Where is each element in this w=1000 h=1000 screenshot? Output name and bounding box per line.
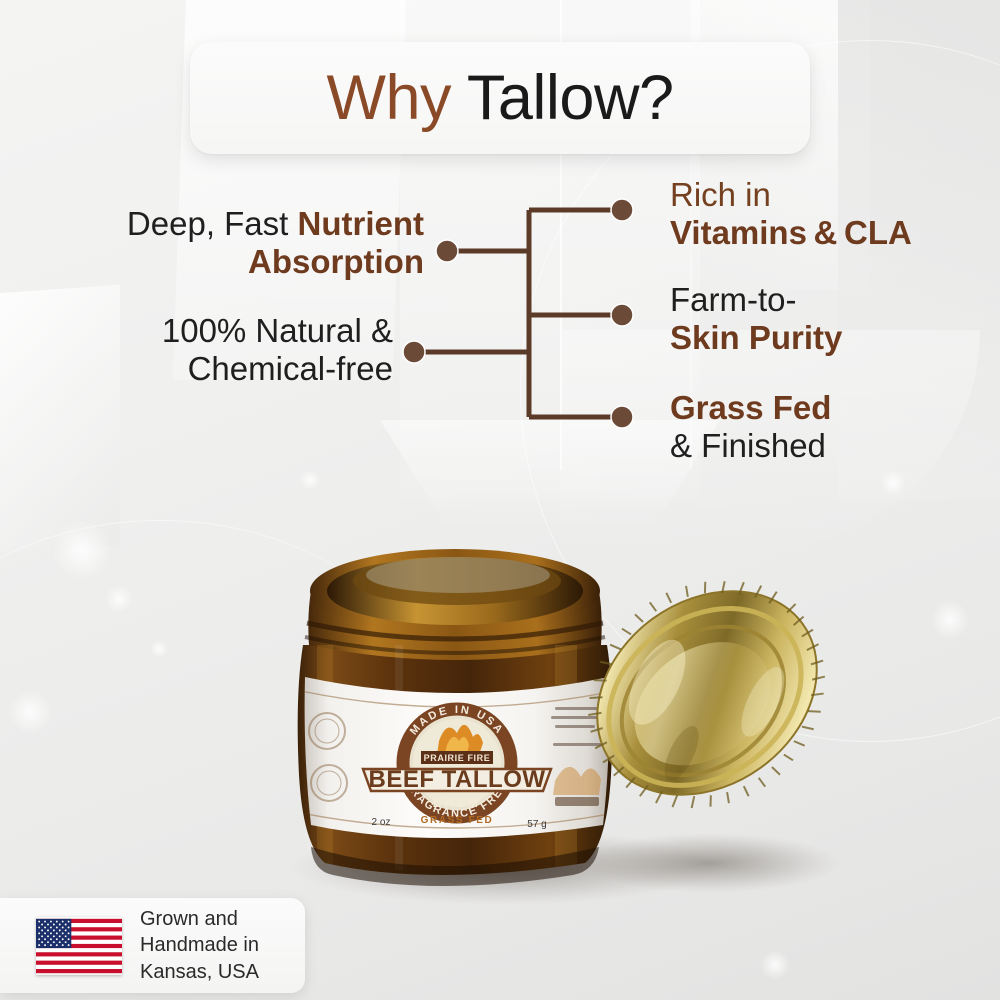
origin-badge-text: Grown and Handmade in Kansas, USA <box>140 906 259 985</box>
origin-line-1: Grown and <box>140 906 259 932</box>
origin-badge: Grown and Handmade in Kansas, USA <box>0 898 305 993</box>
label-claim: GRASS FED <box>421 815 494 826</box>
label-subtitle: BALM <box>433 796 482 810</box>
dot-right-farm <box>611 304 633 326</box>
lid-shadow <box>580 833 840 893</box>
label-net-weight-oz: 2 oz <box>372 817 391 828</box>
dot-left-natural <box>403 341 425 363</box>
dot-left-nutrient <box>436 240 458 262</box>
label-brand: PRAIRIE FIRE <box>424 753 491 763</box>
jar-content-surface <box>366 557 550 593</box>
dot-right-vitamins <box>611 199 633 221</box>
product-image-beef-tallow-jar: PRAIRIE FIRE MADE IN USA FRAGRANCE FREE … <box>255 495 875 925</box>
product-label: PRAIRIE FIRE MADE IN USA FRAGRANCE FREE … <box>301 677 615 838</box>
origin-line-2: Handmade in <box>140 932 259 958</box>
infographic-canvas: Why Tallow? Deep, Fast Nutrient Absorpti… <box>0 0 1000 1000</box>
dot-right-grass <box>611 406 633 428</box>
origin-line-3: Kansas, USA <box>140 959 259 985</box>
label-net-weight-g: 57 g <box>527 819 546 830</box>
usa-flag-icon <box>36 917 122 975</box>
label-product-name: BEEF TALLOW <box>368 766 545 793</box>
